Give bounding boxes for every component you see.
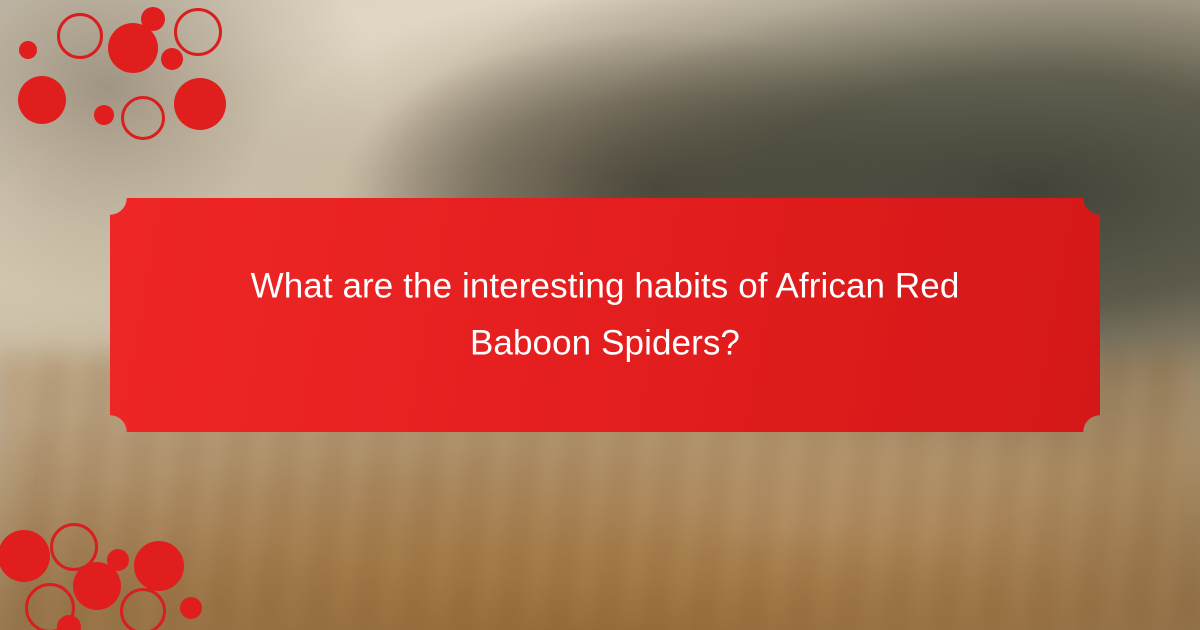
- decorative-dot: [161, 48, 183, 70]
- decorative-ring: [57, 13, 103, 59]
- decorative-ring: [120, 588, 166, 630]
- decorative-dot: [141, 7, 165, 31]
- decorative-dot: [134, 541, 184, 591]
- decorative-dot: [18, 76, 66, 124]
- decorative-dot: [174, 78, 226, 130]
- decorative-ring: [174, 8, 222, 56]
- decorative-dot: [0, 530, 50, 582]
- decorative-ring: [121, 96, 165, 140]
- decorative-dot: [94, 105, 114, 125]
- decorative-dot: [73, 562, 121, 610]
- decorative-dot: [180, 597, 202, 619]
- share-card: What are the interesting habits of Afric…: [0, 0, 1200, 630]
- banner-title-text: What are the interesting habits of Afric…: [180, 258, 1030, 371]
- title-banner: What are the interesting habits of Afric…: [110, 198, 1100, 432]
- decorative-dot: [19, 41, 37, 59]
